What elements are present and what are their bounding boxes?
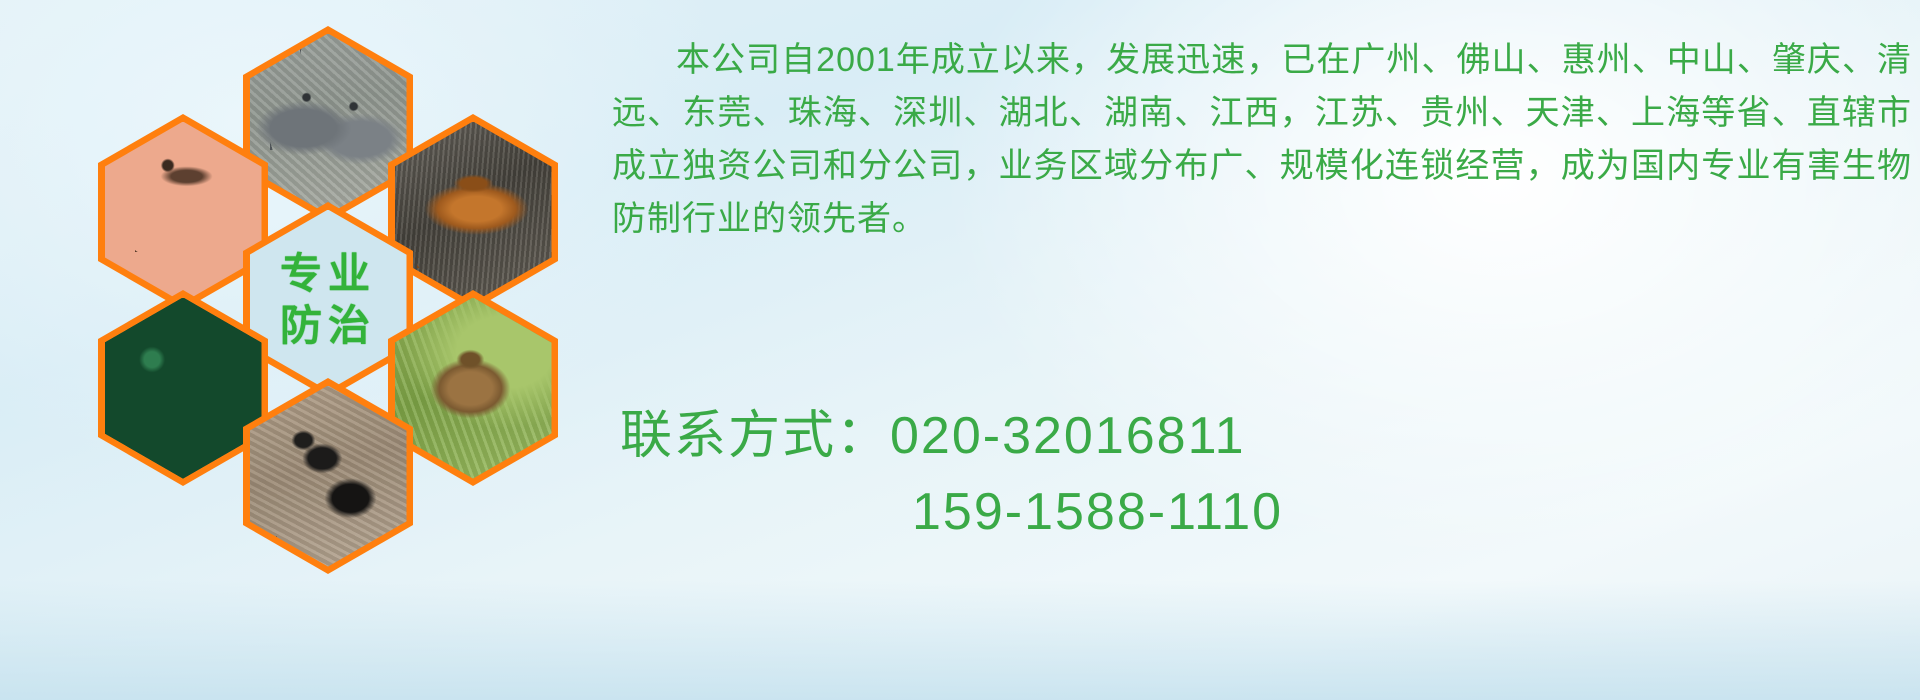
hex-photo-flies — [98, 290, 268, 486]
contact-phone-secondary[interactable]: 159-1588-1110 — [620, 474, 1920, 550]
mosquito-photo — [105, 122, 262, 303]
hex-photo-cockroach — [388, 114, 558, 310]
company-copy-block: 本公司自2001年成立以来，发展迅速，已在广州、佛山、惠州、中山、肇庆、清远、东… — [612, 34, 1912, 246]
company-intro-paragraph: 本公司自2001年成立以来，发展迅速，已在广州、佛山、惠州、中山、肇庆、清远、东… — [612, 34, 1912, 246]
hex-photo-stink-bug — [388, 290, 558, 486]
logo-slogan-line-2: 防治 — [280, 300, 376, 353]
logo-slogan-line-1: 专业 — [280, 248, 376, 301]
contact-block: 联系方式：020-32016811 159-1588-1110 — [620, 398, 1920, 550]
hex-photo-mosquito — [98, 114, 268, 310]
ant-photo — [250, 386, 407, 567]
cockroach-photo — [395, 122, 552, 303]
hexagon-photo-cluster: 专业 防治 — [88, 10, 588, 580]
pest-control-banner: 专业 防治 本公司自2001年成立以来，发展迅速，已在广州、佛山、惠州、中山、肇… — [0, 0, 1920, 700]
hex-logo-center: 专业 防治 — [243, 202, 413, 398]
contact-phone-primary[interactable]: 联系方式：020-32016811 — [620, 398, 1920, 474]
rats-photo — [250, 34, 407, 215]
stink-bug-photo — [395, 298, 552, 479]
flies-photo — [105, 298, 262, 479]
logo-slogan: 专业 防治 — [280, 248, 376, 353]
hex-photo-ant — [243, 378, 413, 574]
hex-photo-rats — [243, 26, 413, 222]
